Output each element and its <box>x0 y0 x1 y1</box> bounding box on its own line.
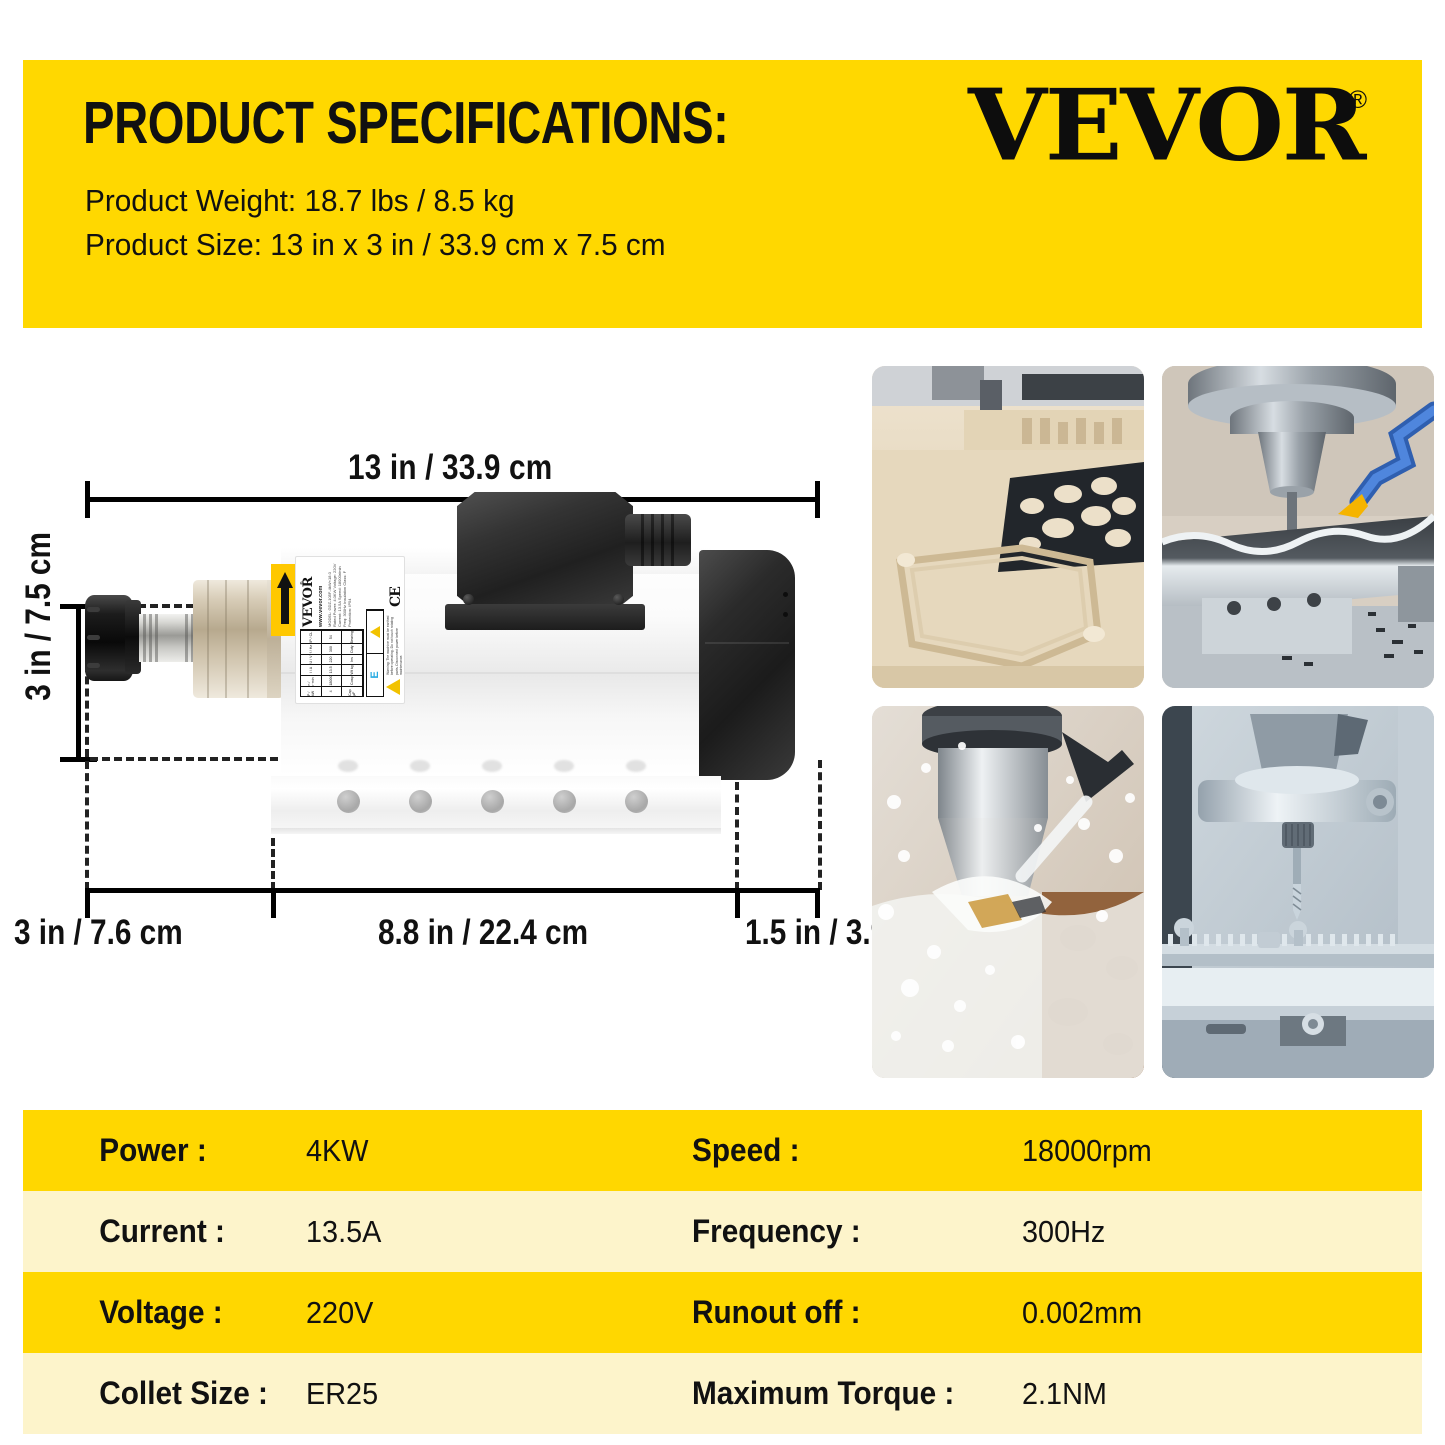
product-weight-line: Product Weight: 18.7 lbs / 8.5 kg <box>85 179 666 223</box>
specification-table: Power : 4KW Speed : 18000rpm Current : 1… <box>23 1110 1422 1434</box>
cable-gland <box>625 514 691 566</box>
spec-value: 18000rpm <box>1022 1133 1394 1169</box>
table-row: Current : 13.5A Frequency : 300Hz <box>23 1191 1422 1272</box>
spindle-motor-illustration: P / kW n / r·min I / A U / V f / Hz IP /… <box>85 520 825 850</box>
rear-cap <box>699 550 795 780</box>
dimension-line-top <box>85 497 820 502</box>
dimension-line-left <box>76 604 81 762</box>
photo-pcb-drilling <box>1162 706 1434 1078</box>
label-certification-badges: E <box>366 609 384 697</box>
spec-value: ER25 <box>306 1376 665 1412</box>
rear-vent-hole <box>783 612 788 617</box>
spec-key: Power : <box>23 1132 286 1169</box>
bearing-housing <box>193 580 275 698</box>
vevor-wordmark: VEVOR <box>968 77 1364 175</box>
spec-key: Collet Size : <box>23 1375 286 1412</box>
arrow-stem <box>281 588 289 624</box>
table-row: Power : 4KW Speed : 18000rpm <box>23 1110 1422 1191</box>
header-banner: PRODUCT SPECIFICATIONS: Product Weight: … <box>23 60 1422 328</box>
vevor-logo: VEVOR ® <box>968 77 1367 173</box>
table-row: Collet Size : ER25 Maximum Torque : 2.1N… <box>23 1353 1422 1434</box>
label-warning-text: Warning: The machine must be earthed bef… <box>386 613 404 675</box>
label-meta-text: MODEL: GDZ-105F-4kW×18.0 Rated Power: 4.… <box>327 563 352 627</box>
label-registered-icon: ® <box>300 581 306 585</box>
spec-key: Frequency : <box>692 1213 999 1250</box>
rear-vent-hole <box>783 592 788 597</box>
electrical-hazard-icon <box>527 522 569 558</box>
spec-value: 2.1NM <box>1022 1376 1394 1412</box>
arrow-up-icon <box>277 572 293 588</box>
application-photo-grid <box>872 366 1434 1078</box>
spec-value: 220V <box>306 1295 665 1331</box>
spec-value: 0.002mm <box>1022 1295 1394 1331</box>
spec-key: Voltage : <box>23 1294 286 1331</box>
warning-triangle-icon <box>370 626 380 638</box>
dimension-cap-left <box>85 481 90 518</box>
dimension-line-bottom <box>85 888 820 893</box>
photo-cnc-wood-routing <box>872 366 1144 688</box>
rear-cap-seam <box>705 642 789 644</box>
dimension-cap-right <box>815 481 820 518</box>
dimension-label-total-length: 13 in / 33.9 cm <box>348 448 552 488</box>
table-row: Voltage : 220V Runout off : 0.002mm <box>23 1272 1422 1353</box>
spec-key: Runout off : <box>692 1294 999 1331</box>
dimension-tick-1 <box>271 888 276 918</box>
dimension-label-segment-2: 8.8 in / 22.4 cm <box>378 913 588 953</box>
spec-key: Maximum Torque : <box>692 1375 999 1412</box>
photo-coolant-machining <box>872 706 1144 1078</box>
junction-box-screw <box>463 594 474 605</box>
bracket-mounting-hole <box>409 790 432 813</box>
page-title: PRODUCT SPECIFICATIONS: <box>83 94 729 153</box>
bracket-mounting-hole <box>625 790 648 813</box>
bracket-mounting-hole <box>481 790 504 813</box>
spec-value: 4KW <box>306 1133 665 1169</box>
spec-value: 300Hz <box>1022 1214 1394 1250</box>
dimension-label-segment-1: 3 in / 7.6 cm <box>14 913 183 953</box>
spec-key: Current : <box>23 1213 286 1250</box>
ce-mark-icon: CE <box>388 587 404 607</box>
mounting-bracket-edge <box>271 828 721 834</box>
product-spec-label: P / kW n / r·min I / A U / V f / Hz IP /… <box>295 556 405 704</box>
junction-box-screw <box>613 594 624 605</box>
junction-box-base <box>445 604 645 630</box>
label-url: www.vevor.com <box>318 586 324 627</box>
label-spec-grid: P / kW n / r·min I / A U / V f / Hz IP /… <box>300 629 364 697</box>
dimension-tick-2 <box>735 888 740 918</box>
bracket-mounting-hole <box>337 790 360 813</box>
bracket-mounting-hole <box>553 790 576 813</box>
spindle-shaft <box>139 614 197 662</box>
photo-metal-milling <box>1162 366 1434 688</box>
insulation-class-icon: E <box>369 671 381 678</box>
spec-key: Speed : <box>692 1132 999 1169</box>
spec-value: 13.5A <box>306 1214 665 1250</box>
dimension-label-height: 3 in / 7.5 cm <box>19 539 59 701</box>
label-warning-triangle-icon <box>386 679 400 695</box>
product-size-line: Product Size: 13 in x 3 in / 33.9 cm x 7… <box>85 223 666 267</box>
header-spec-lines: Product Weight: 18.7 lbs / 8.5 kg Produc… <box>85 179 690 267</box>
